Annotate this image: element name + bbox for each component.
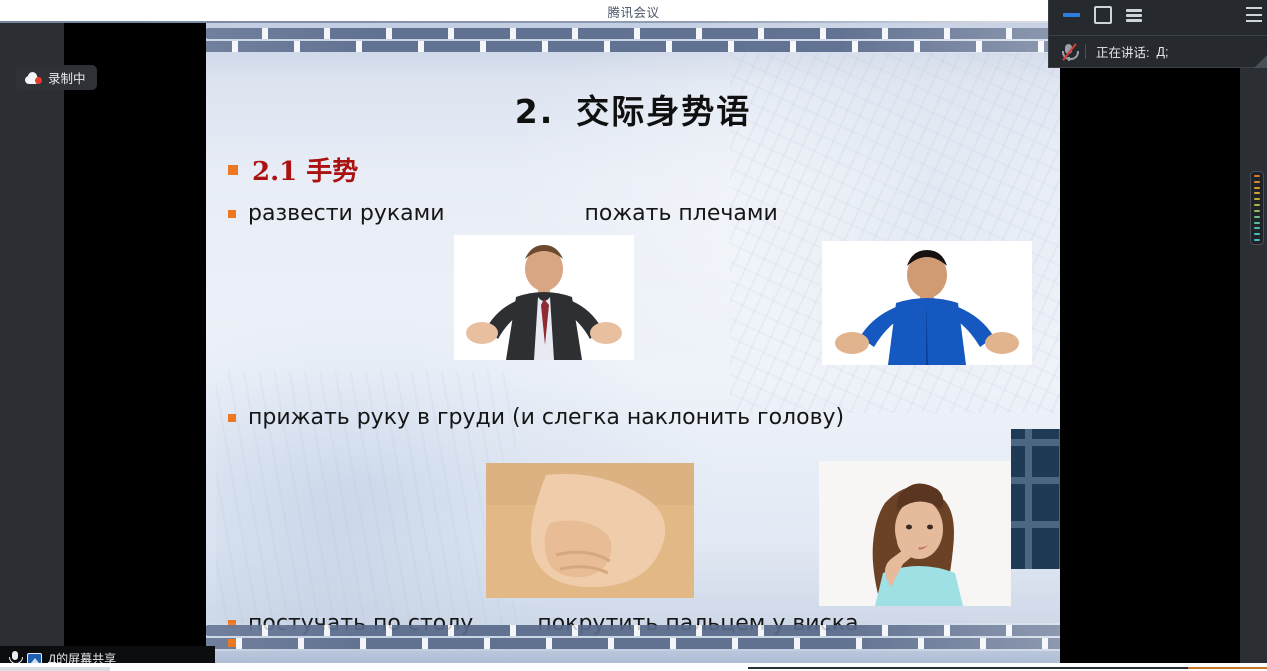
panel-divider (1085, 44, 1086, 59)
slide-title-text: 交际身势语 (576, 92, 751, 131)
panel-menu-icon[interactable] (1126, 9, 1142, 22)
slide-subsection-text: 2.1 手势 (252, 151, 358, 188)
letterbox-left (64, 23, 206, 671)
floating-meeting-panel[interactable]: 正在讲话: Д; (1048, 0, 1267, 68)
bullet-square-icon (228, 210, 236, 218)
window-bottom-strip (0, 663, 1267, 671)
left-gutter (0, 23, 64, 671)
slide-title: 2.交际身势语 (206, 85, 1060, 133)
slide-subsection: 2.1 手势 (228, 151, 358, 188)
slide-bullet-row-1: развести руками пожать плечами (228, 201, 778, 226)
panel-restore-icon[interactable] (1094, 6, 1112, 24)
slide-brick-band-top (206, 28, 1060, 53)
speaking-label: 正在讲话: (1096, 42, 1149, 61)
recording-badge[interactable]: 录制中 (16, 65, 97, 90)
bullet-square-icon (228, 165, 238, 175)
bottom-strip-accent (1188, 667, 1267, 669)
photo-man-blue-shirt-shrug (822, 241, 1032, 365)
panel-resize-handle[interactable] (1254, 52, 1267, 68)
audio-level-meter (1250, 171, 1264, 245)
bottom-strip-left (0, 667, 110, 671)
slide-brick-band-bottom (206, 623, 1060, 653)
speaking-name: Д; (1156, 45, 1168, 59)
floating-panel-toolbar (1049, 0, 1267, 36)
panel-minimize-icon[interactable] (1063, 13, 1080, 17)
bullet-text-razvesti-rukami: развести руками (248, 201, 445, 226)
slide-bullet-row-3: прижать руку в груди (и слегка наклонить… (228, 405, 844, 430)
recording-label: 录制中 (48, 68, 86, 87)
letterbox-right (1060, 23, 1267, 671)
cloud-record-icon (25, 72, 42, 84)
bullet-square-icon (228, 414, 236, 422)
panel-more-icon[interactable] (1246, 7, 1262, 22)
meeting-content-area: 录制中 2.交际身势语 2.1 手势 развести руками пожат… (0, 23, 1267, 671)
photo-man-suit-shrug (454, 235, 634, 360)
floating-panel-speaking-row: 正在讲话: Д; (1049, 36, 1267, 67)
photo-fist-on-table (486, 463, 694, 598)
photo-woman-finger-temple (819, 461, 1011, 606)
bullet-square-icon-last (228, 639, 236, 647)
window-title: 腾讯会议 (607, 2, 659, 21)
slide-title-number: 2. (515, 92, 555, 131)
mic-muted-icon[interactable] (1061, 43, 1076, 61)
bullet-text-prizhat-ruku: прижать руку в груди (и слегка наклонить… (248, 405, 844, 430)
photo-hand-on-chest (1011, 429, 1060, 569)
right-gutter (1240, 23, 1267, 671)
bullet-text-pozhat-plechami: пожать плечами (585, 201, 778, 226)
shared-slide: 2.交际身势语 2.1 手势 развести руками пожать пл… (206, 23, 1060, 671)
